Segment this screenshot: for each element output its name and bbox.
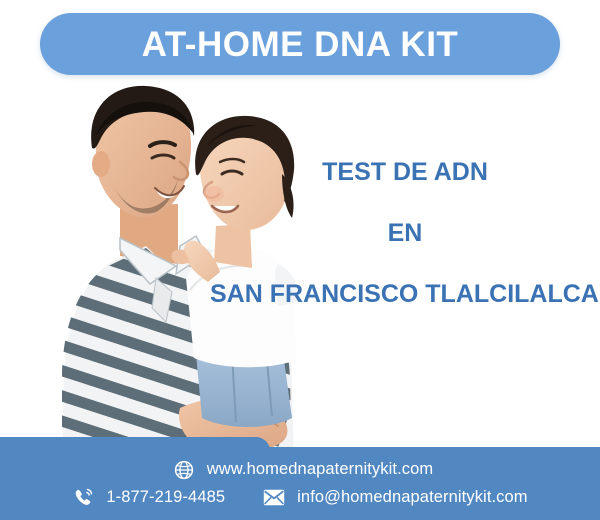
website-item[interactable]: www.homednapaternitykit.com [173,459,433,481]
phone-label: 1-877-219-4485 [106,488,225,507]
phone-icon [72,487,94,509]
headline-line-2: EN [210,221,600,246]
email-label: info@homednapaternitykit.com [297,488,528,507]
poster-canvas: AT-HOME DNA KIT TEST DE ADN EN SAN FRANC… [0,0,600,520]
email-item[interactable]: info@homednapaternitykit.com [263,487,528,509]
header-banner: AT-HOME DNA KIT [40,13,560,75]
headline-line-1: TEST DE ADN [210,160,600,185]
globe-icon [173,459,195,481]
footer-row-website: www.homednapaternitykit.com [173,459,433,481]
footer-row-phone-email: 1-877-219-4485 info@homednapaternitykit.… [72,487,527,509]
website-label: www.homednapaternitykit.com [207,460,433,479]
envelope-icon [263,487,285,509]
footer-contact-block: www.homednapaternitykit.com 1-877-219-44… [0,447,600,520]
page-title: AT-HOME DNA KIT [142,27,459,62]
phone-item[interactable]: 1-877-219-4485 [72,487,225,509]
headline-line-3: SAN FRANCISCO TLALCILALCAL [210,282,600,307]
headline-block: TEST DE ADN EN SAN FRANCISCO TLALCILALCA… [210,160,600,307]
